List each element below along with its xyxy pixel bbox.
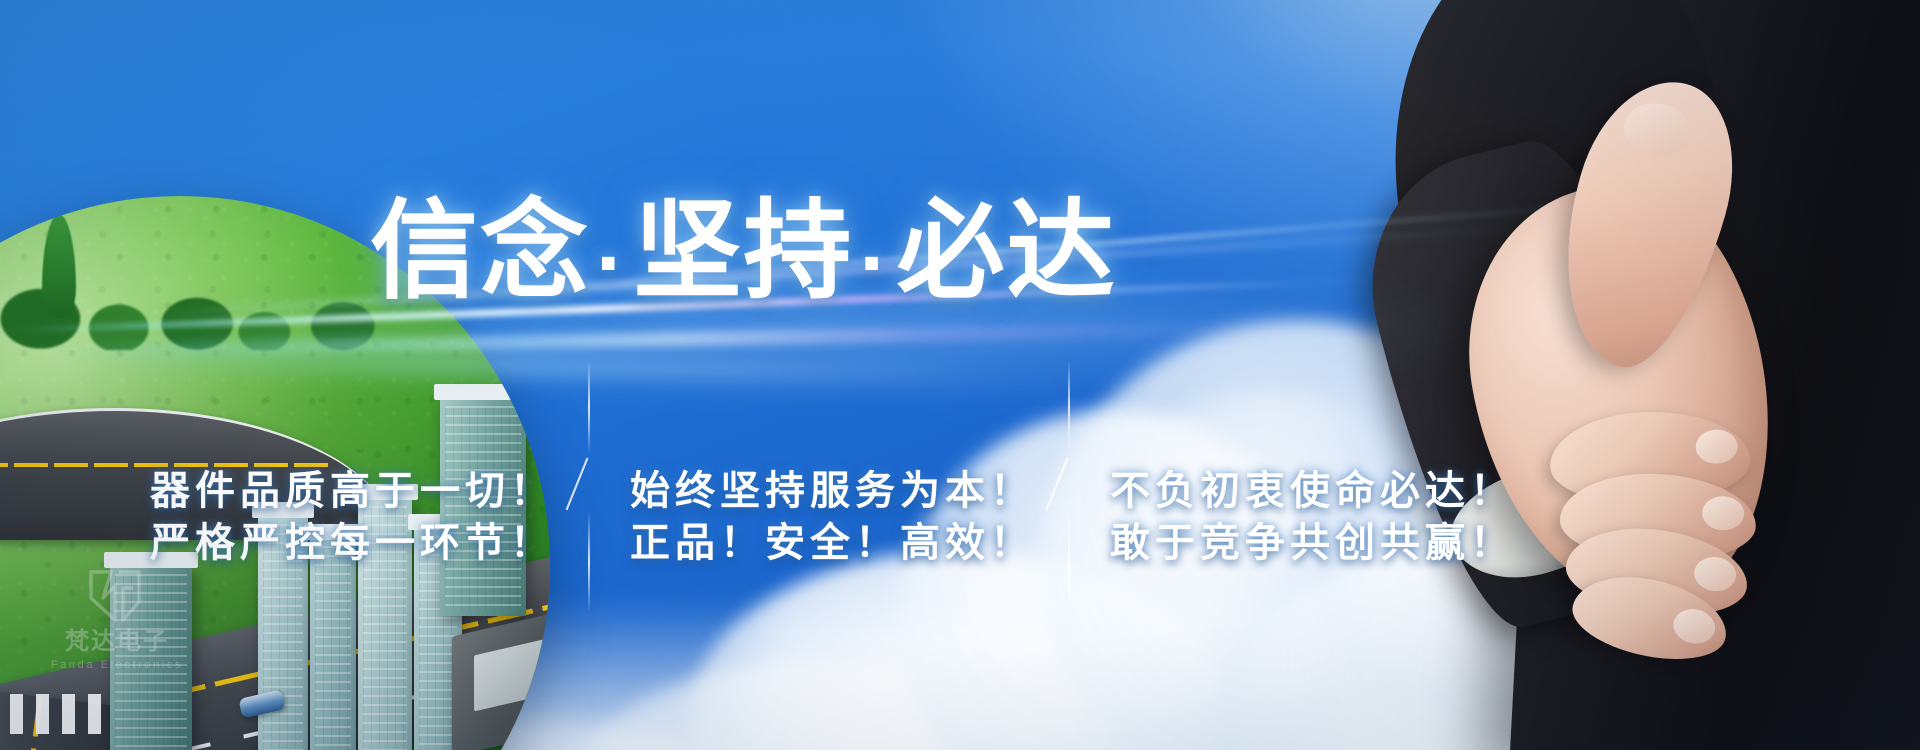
building <box>110 564 192 750</box>
slogan-line: 敢于竞争共创共赢！ <box>1110 518 1540 569</box>
banner-headline: 信念 · 坚持 · 必达 <box>370 188 1200 313</box>
slogan-divider <box>1030 418 1110 618</box>
headline-part-3: 必达 <box>897 197 1117 305</box>
slogan-column-2: 始终坚持服务为本！ 正品！安全！高效！ <box>630 466 1030 568</box>
slogan-line: 始终坚持服务为本！ <box>630 466 1030 517</box>
slogan-divider <box>550 418 630 618</box>
slogan-line: 严格严控每一环节！ <box>150 518 550 569</box>
headline-separator: · <box>590 219 633 307</box>
slogan-row: 器件品质高于一切！ 严格严控每一环节！ 始终坚持服务为本！ 正品！安全！高效！ … <box>150 465 1570 570</box>
slogan-line: 器件品质高于一切！ <box>150 466 550 517</box>
slogan-line: 正品！安全！高效！ <box>630 518 1030 569</box>
promo-banner: ron Blvd 梵达电子 Fanda Electronics <box>0 0 1920 750</box>
slogan-column-1: 器件品质高于一切！ 严格严控每一环节！ <box>150 466 550 568</box>
slogan-line: 不负初衷使命必达！ <box>1110 466 1540 517</box>
crosswalk <box>0 694 106 734</box>
headline-part-1: 信念 <box>370 197 590 305</box>
headline-separator: · <box>853 219 896 307</box>
slogan-column-3: 不负初衷使命必达！ 敢于竞争共创共赢！ <box>1110 466 1540 568</box>
headline-part-2: 坚持 <box>633 197 853 305</box>
